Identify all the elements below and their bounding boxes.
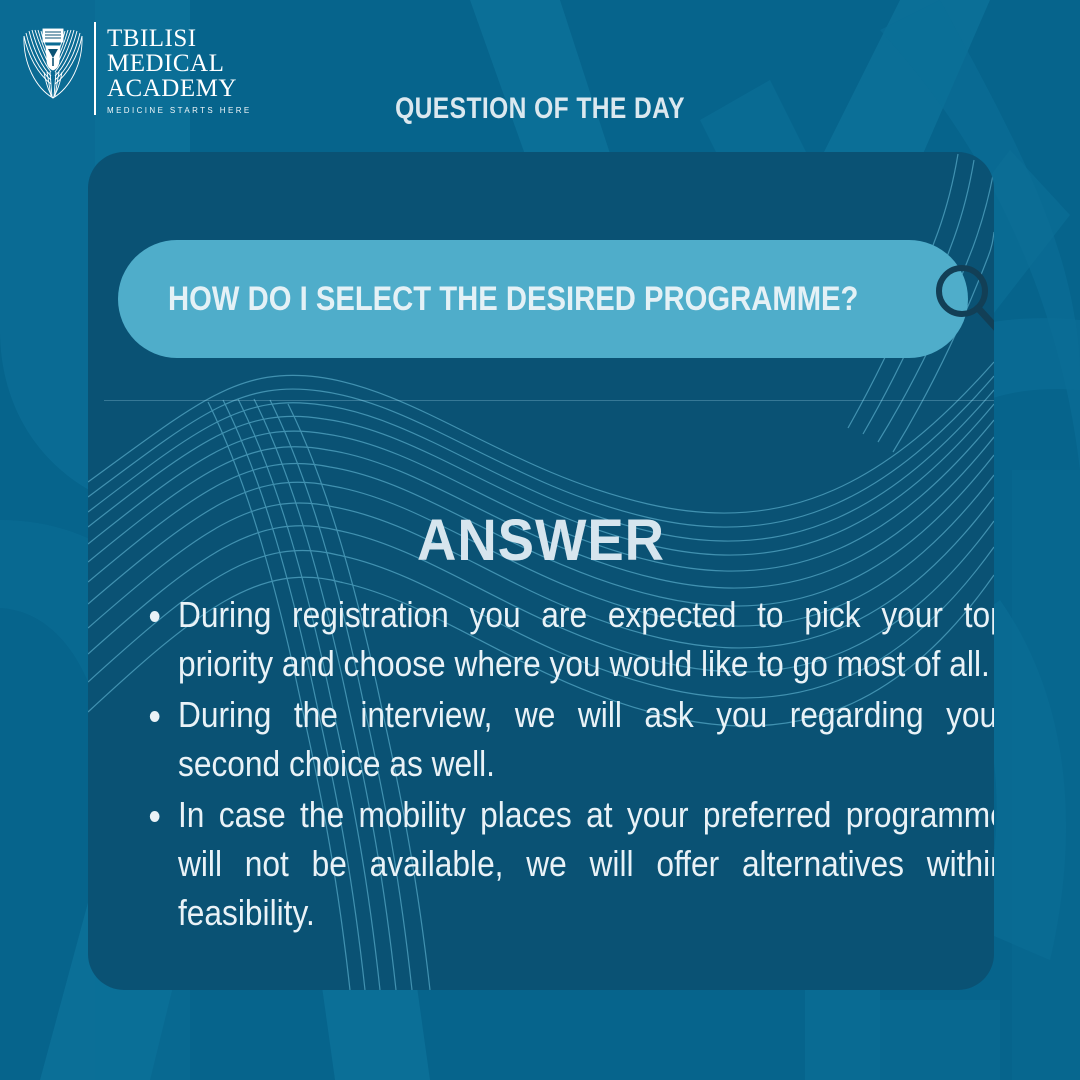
poster-header: TBILISI MEDICAL ACADEMY MEDICINE STARTS …: [0, 0, 1080, 152]
brand-line-1: TBILISI: [107, 26, 252, 51]
question-text: HOW DO I SELECT THE DESIRED PROGRAMME?: [168, 280, 858, 319]
answer-bullet-list: During registration you are expected to …: [126, 590, 994, 939]
search-icon[interactable]: [931, 261, 994, 337]
question-search-bar[interactable]: HOW DO I SELECT THE DESIRED PROGRAMME?: [118, 240, 968, 358]
brand-line-2: MEDICAL: [107, 51, 252, 76]
answer-heading: ANSWER: [115, 507, 967, 574]
list-item: In case the mobility places at your pref…: [178, 790, 994, 937]
qa-card: HOW DO I SELECT THE DESIRED PROGRAMME? A…: [88, 152, 994, 990]
page-title: QUESTION OF THE DAY: [97, 92, 983, 126]
list-item: During the interview, we will ask you re…: [178, 690, 994, 788]
poster-canvas: TBILISI MEDICAL ACADEMY MEDICINE STARTS …: [0, 0, 1080, 1080]
list-item: During registration you are expected to …: [178, 590, 994, 688]
section-divider: [104, 400, 994, 401]
tbilisi-medical-academy-crest-icon: [22, 22, 84, 100]
